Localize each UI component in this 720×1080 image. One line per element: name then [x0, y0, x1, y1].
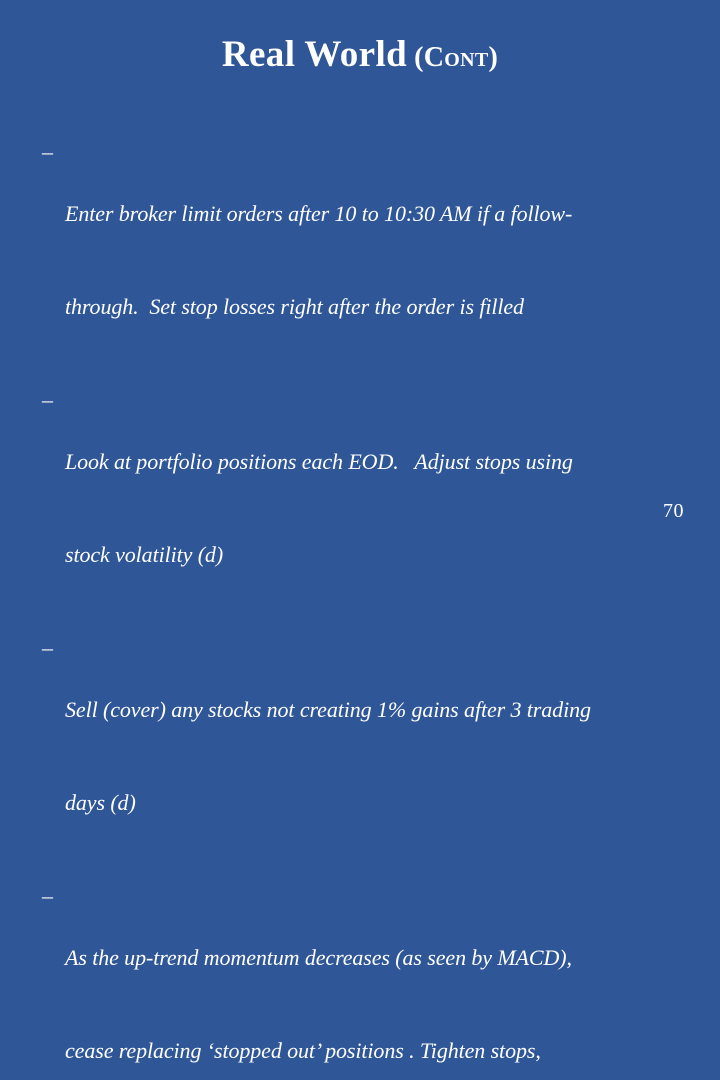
list-item-line: Look at portfolio positions each EOD. Ad… — [65, 446, 712, 477]
list-item-line: stock volatility (d) — [65, 539, 712, 570]
page-number: 70 — [663, 500, 684, 523]
list-item-line: As the up-trend momentum decreases (as s… — [65, 942, 712, 973]
bullet-list: – Enter broker limit orders after 10 to … — [40, 136, 712, 1080]
slide-title: Real World(Cont) — [0, 36, 720, 75]
list-item-line: Enter broker limit orders after 10 to 10… — [65, 198, 712, 229]
list-item-text: Enter broker limit orders after 10 to 10… — [65, 136, 712, 384]
list-item: – Look at portfolio positions each EOD. … — [40, 384, 712, 632]
list-item: – Enter broker limit orders after 10 to … — [40, 136, 712, 384]
slide-title-suffix: (Cont) — [414, 42, 498, 73]
list-item-line: through. Set stop losses right after the… — [65, 291, 712, 322]
slide-canvas: Real World(Cont) – Enter broker limit or… — [0, 0, 720, 540]
slide-title-main: Real World — [222, 34, 407, 75]
list-item-line: Sell (cover) any stocks not creating 1% … — [65, 694, 712, 725]
list-item: – As the up-trend momentum decreases (as… — [40, 880, 712, 1080]
list-item-line: days (d) — [65, 787, 712, 818]
bullet-dash-icon: – — [42, 632, 53, 663]
list-item-line: cease replacing ‘stopped out’ positions … — [65, 1035, 712, 1066]
list-item: – Sell (cover) any stocks not creating 1… — [40, 632, 712, 880]
bullet-dash-icon: – — [42, 384, 53, 415]
list-item-text: As the up-trend momentum decreases (as s… — [65, 880, 712, 1080]
bullet-dash-icon: – — [42, 880, 53, 911]
list-item-text: Look at portfolio positions each EOD. Ad… — [65, 384, 712, 632]
bullet-dash-icon: – — [42, 136, 53, 167]
list-item-text: Sell (cover) any stocks not creating 1% … — [65, 632, 712, 880]
